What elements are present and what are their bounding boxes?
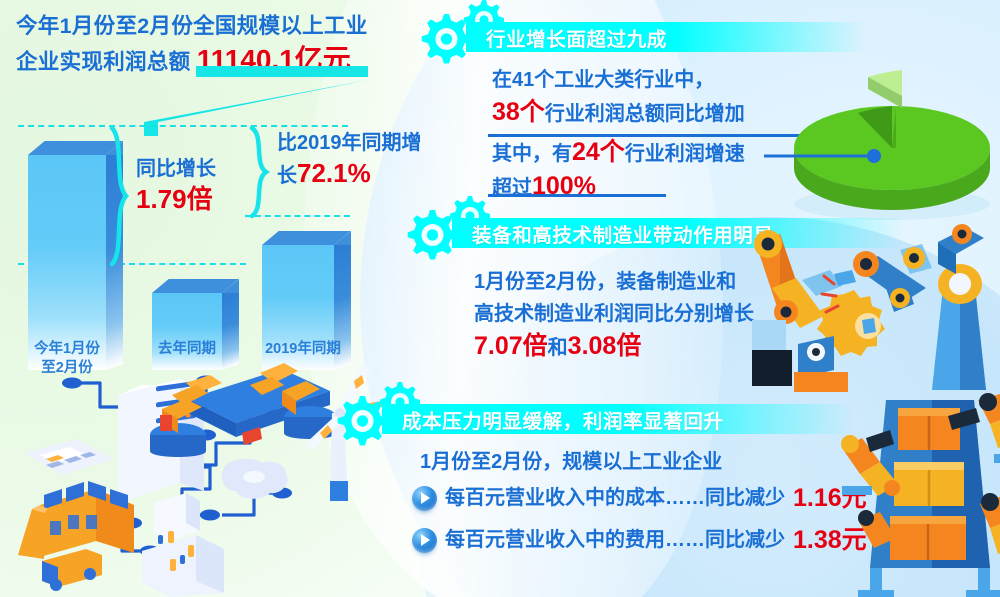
section-title: 装备和高技术制造业带动作用明显 xyxy=(472,219,774,248)
line-text: 行业利润增速 xyxy=(625,143,745,165)
line-text: 行业利润总额同比增加 xyxy=(545,103,745,125)
section-header: 行业增长面超过九成 xyxy=(466,22,1000,52)
brace-yoy xyxy=(108,126,134,266)
line-text: 1月份至2月份，装备制造业和 xyxy=(474,271,736,293)
pie-exploded-slice xyxy=(868,70,902,108)
annotation-yoy-label: 同比增长 xyxy=(136,158,216,180)
annotation-yoy-value: 1.79倍 xyxy=(136,184,213,214)
headline-line-2: 企业实现利润总额 xyxy=(16,50,190,74)
line-text: 其中，有 xyxy=(492,143,572,165)
section-industry-growth: 行业增长面超过九成 在41个工业大类行业中， 38个行业利润总额同比增加 其中，… xyxy=(466,22,1000,204)
line-text: 在41个工业大类行业中， xyxy=(492,69,714,91)
annotation-vs2019-label-2: 长 xyxy=(277,165,297,187)
section-equipment-hitech: 装备和高技术制造业带动作用明显 1月份至2月份，装备制造业和 高技术制造业利润同… xyxy=(452,218,1000,364)
base-legs xyxy=(858,568,1000,597)
section-title: 行业增长面超过九成 xyxy=(486,23,667,52)
pie-chart xyxy=(784,56,1000,226)
highlight-value: 7.07倍 xyxy=(474,332,548,360)
bar-current-period xyxy=(28,155,106,370)
gridline-top xyxy=(18,125,348,127)
calculator-icon xyxy=(24,439,114,475)
highlight-value: 38个 xyxy=(492,98,545,126)
play-bullet-icon xyxy=(412,486,437,511)
box-stack xyxy=(890,408,966,560)
factory-icon xyxy=(18,481,134,559)
bar-face xyxy=(28,155,106,370)
robot-arm-far-right xyxy=(932,224,986,390)
truck-icon xyxy=(42,549,102,591)
bullet-text: 每百元营业收入中的费用……同比减少 xyxy=(445,524,785,556)
section-title: 成本压力明显缓解，利润率显著回升 xyxy=(402,405,724,434)
annotation-vs2019: 比2019年同期增 长72.1% xyxy=(277,128,447,191)
play-bullet-icon xyxy=(412,528,437,553)
warehouse-robot-illustration xyxy=(840,392,1000,597)
annotation-yoy: 同比增长 1.79倍 xyxy=(136,154,216,217)
headline-line-1: 今年1月份至2月份全国规模以上工业 xyxy=(16,14,368,38)
bar-chart: 同比增长 1.79倍 比2019年同期增 长72.1% 今年1月份至2月份 去年… xyxy=(0,100,380,370)
highlight-value: 24个 xyxy=(572,138,625,166)
brace-vs2019 xyxy=(248,126,274,218)
underline-rule-2 xyxy=(488,194,666,197)
annotation-vs2019-label: 比2019年同期增 xyxy=(277,132,422,154)
cnc-machine-icon xyxy=(142,493,224,597)
robot-arm-illustration xyxy=(738,222,1000,398)
annotation-vs2019-value: 72.1% xyxy=(297,158,371,188)
line-text: 高技术制造业利润同比分别增长 xyxy=(474,303,754,325)
section-cost-pressure: 成本压力明显缓解，利润率显著回升 1月份至2月份，规模以上工业企业 每百元营业收… xyxy=(382,404,1000,556)
bullet-text: 每百元营业收入中的成本……同比减少 xyxy=(445,482,785,514)
highlight-value-2: 3.08倍 xyxy=(568,332,642,360)
line-text: 和 xyxy=(548,337,568,359)
